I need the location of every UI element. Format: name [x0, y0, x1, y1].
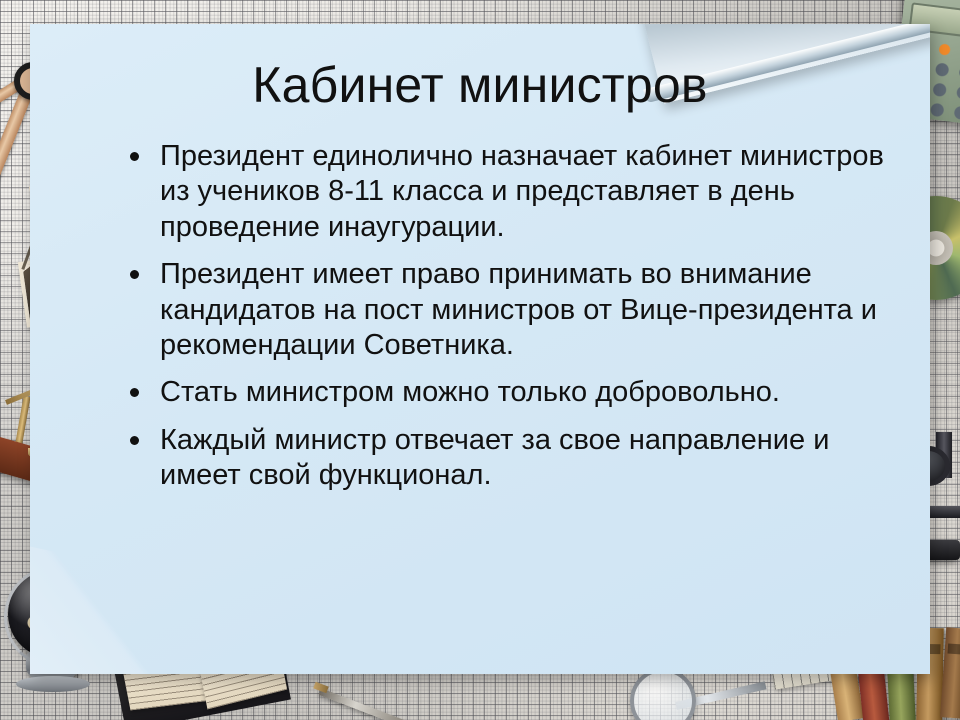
- slide-card: Кабинет министров Президент единолично н…: [30, 24, 930, 674]
- bullet-list: Президент единолично назначает кабинет м…: [30, 139, 930, 493]
- bullet-item: Президент имеет право принимать во внима…: [122, 257, 894, 363]
- bullet-item: Президент единолично назначает кабинет м…: [122, 139, 894, 245]
- globe-foot-icon: [16, 676, 90, 692]
- bullet-item: Каждый министр отвечает за свое направле…: [122, 423, 894, 494]
- paper-fold-decoration: [30, 537, 261, 674]
- slide-title: Кабинет министров: [30, 24, 930, 113]
- presentation-slide: Кабинет министров Президент единолично н…: [0, 0, 960, 720]
- slide-content: Кабинет министров Президент единолично н…: [30, 24, 930, 493]
- bullet-item: Стать министром можно только добровольно…: [122, 375, 894, 410]
